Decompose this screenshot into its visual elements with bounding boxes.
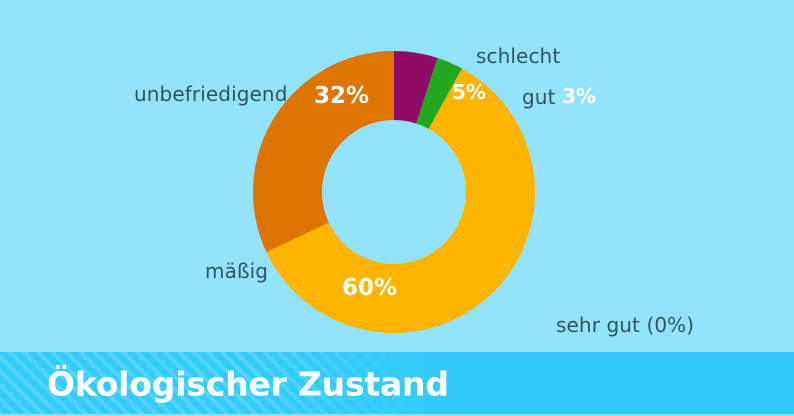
slice-label-schlecht: schlecht [476,44,560,68]
slice-label-maessig: mäßig [205,259,268,283]
slice-value-schlecht: 5% [452,80,486,104]
slice-value-gut: 3% [562,84,596,108]
slice-value-unbefriedigend: 32% [314,83,369,109]
page-title: Ökologischer Zustand [47,365,449,404]
slice-value-maessig: 60% [342,275,397,301]
slice-label-unbefriedigend: unbefriedigend [134,82,288,106]
chart-page: unbefriedigend schlecht gut mäßig sehr g… [0,0,794,416]
slice-label-sehr-gut: sehr gut (0%) [556,313,694,337]
chart-title-bar: Ökologischer Zustand [0,352,794,416]
slice-label-gut: gut [522,85,556,109]
donut-chart: unbefriedigend schlecht gut mäßig sehr g… [0,0,794,352]
